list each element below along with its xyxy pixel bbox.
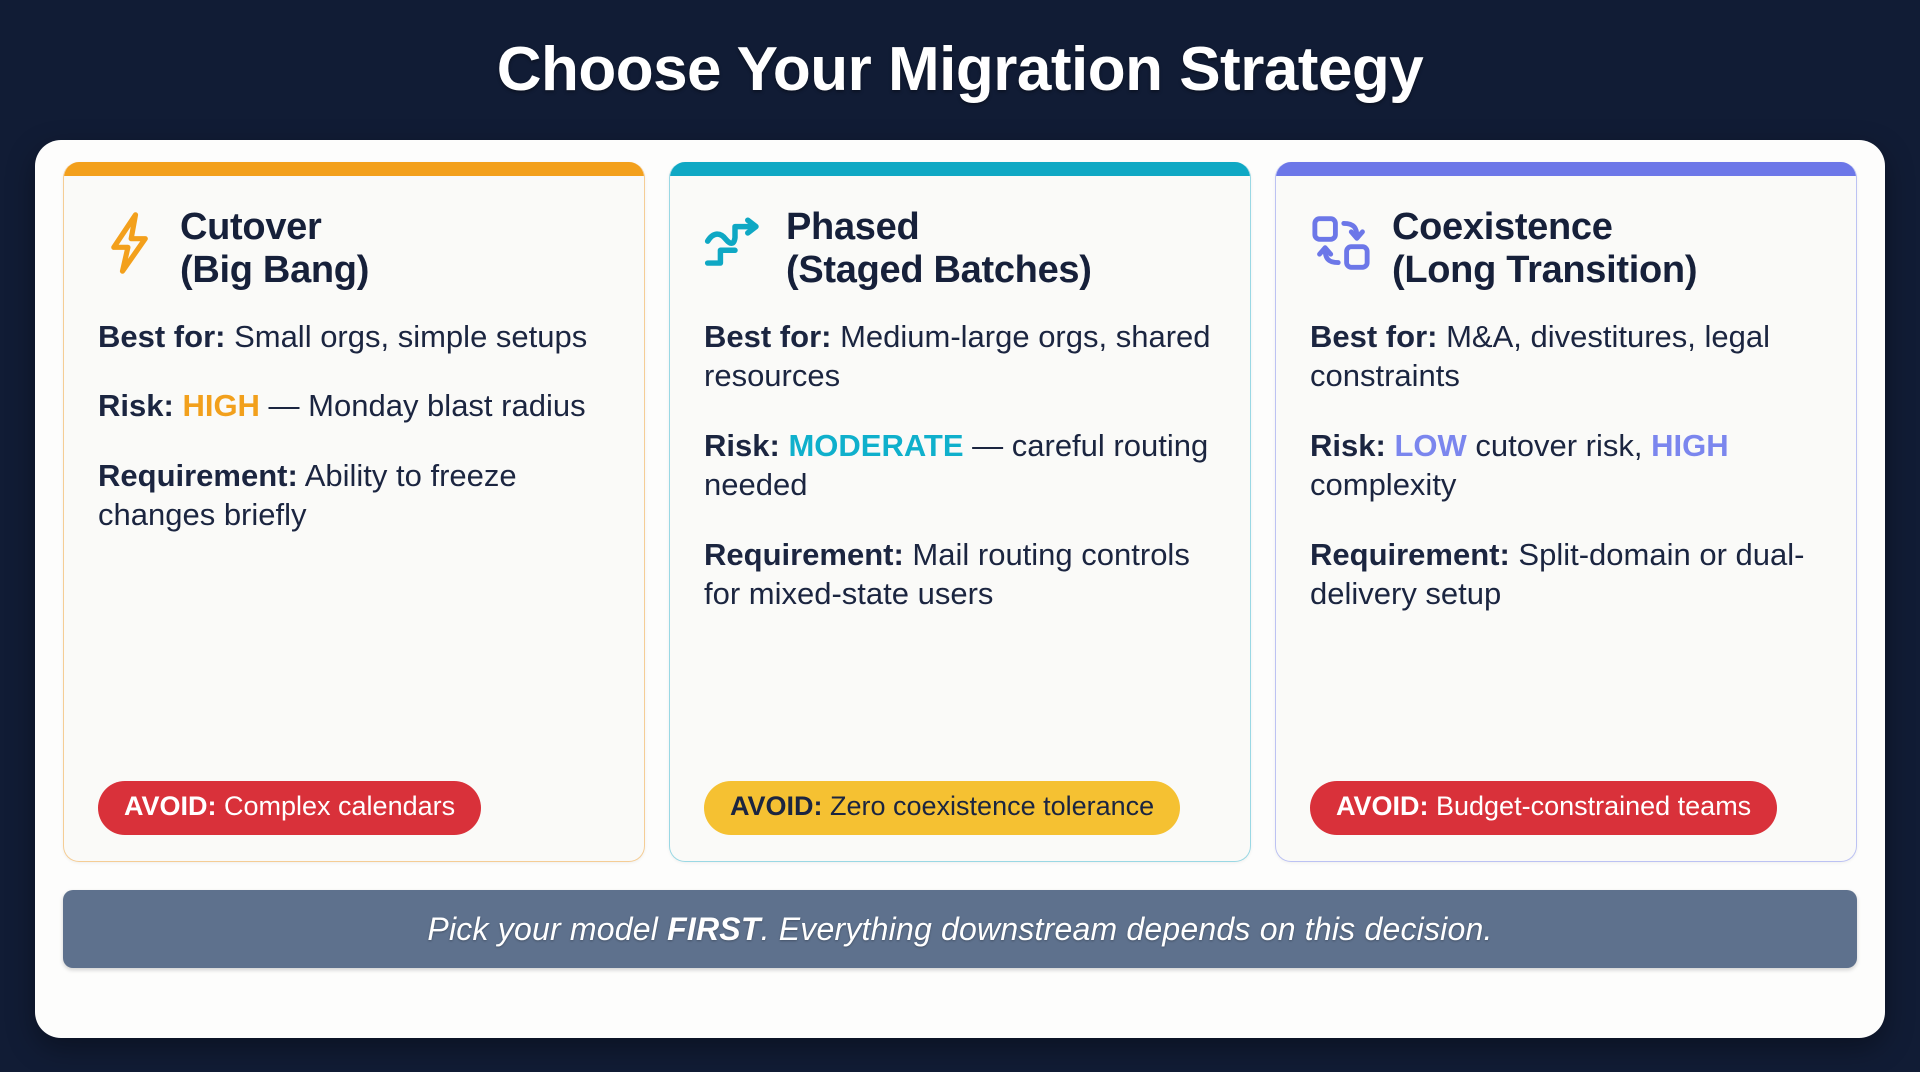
- risk-line: Risk: LOW cutover risk, HIGH complexity: [1310, 426, 1822, 505]
- footer-text: Pick your model FIRST. Everything downst…: [427, 911, 1492, 948]
- best-for-label: Best for:: [1310, 319, 1437, 354]
- avoid-row: AVOID: Budget-constrained teams: [1310, 755, 1822, 835]
- card-title-line1: Coexistence: [1392, 206, 1613, 248]
- card-title-line2: (Long Transition): [1392, 249, 1697, 291]
- footer-banner: Pick your model FIRST. Everything downst…: [63, 890, 1857, 968]
- best-for-label: Best for:: [704, 319, 831, 354]
- strategy-card-phased[interactable]: Phased (Staged Batches) Best for: Medium…: [669, 162, 1251, 862]
- strategy-cards: Cutover (Big Bang) Best for: Small orgs,…: [63, 162, 1857, 862]
- risk-level-badge: MODERATE: [788, 428, 963, 463]
- content-panel: Cutover (Big Bang) Best for: Small orgs,…: [35, 140, 1885, 1038]
- requirement-label: Requirement:: [1310, 537, 1510, 572]
- card-title: Phased (Staged Batches): [786, 206, 1092, 291]
- swap-squares-icon: [1310, 206, 1372, 280]
- risk-line: Risk: HIGH — Monday blast radius: [98, 386, 610, 425]
- risk-level-badge-secondary: HIGH: [1651, 428, 1729, 463]
- best-for-label: Best for:: [98, 319, 225, 354]
- best-for-line: Best for: M&A, divestitures, legal const…: [1310, 317, 1822, 396]
- card-title: Coexistence (Long Transition): [1392, 206, 1697, 291]
- card-title: Cutover (Big Bang): [180, 206, 369, 291]
- infographic-root: Choose Your Migration Strategy Cutover (…: [0, 0, 1920, 1072]
- risk-label: Risk:: [1310, 428, 1386, 463]
- requirement-line: Requirement: Ability to freeze changes b…: [98, 456, 610, 535]
- lightning-bolt-icon: [98, 206, 160, 280]
- avoid-row: AVOID: Zero coexistence tolerance: [704, 755, 1216, 835]
- risk-detail: — Monday blast radius: [260, 388, 586, 423]
- requirement-label: Requirement:: [98, 458, 298, 493]
- best-for-line: Best for: Medium-large orgs, shared reso…: [704, 317, 1216, 396]
- avoid-label: AVOID:: [1336, 791, 1429, 821]
- card-header: Coexistence (Long Transition): [1310, 206, 1822, 291]
- card-title-line1: Cutover: [180, 206, 321, 248]
- requirement-line: Requirement: Mail routing controls for m…: [704, 535, 1216, 614]
- avoid-row: AVOID: Complex calendars: [98, 755, 610, 835]
- footer-text-after: . Everything downstream depends on this …: [761, 911, 1493, 947]
- risk-label: Risk:: [98, 388, 174, 423]
- risk-label: Risk:: [704, 428, 780, 463]
- avoid-label: AVOID:: [124, 791, 217, 821]
- risk-detail-secondary: complexity: [1310, 467, 1456, 502]
- card-title-line2: (Big Bang): [180, 249, 369, 291]
- avoid-value: Budget-constrained teams: [1429, 791, 1752, 821]
- avoid-value: Zero coexistence tolerance: [823, 791, 1155, 821]
- card-header: Cutover (Big Bang): [98, 206, 610, 291]
- footer-emphasis: FIRST: [667, 911, 760, 947]
- risk-level-badge: LOW: [1394, 428, 1466, 463]
- page-title: Choose Your Migration Strategy: [497, 39, 1424, 101]
- strategy-card-cutover[interactable]: Cutover (Big Bang) Best for: Small orgs,…: [63, 162, 645, 862]
- strategy-card-coexistence[interactable]: Coexistence (Long Transition) Best for: …: [1275, 162, 1857, 862]
- avoid-label: AVOID:: [730, 791, 823, 821]
- best-for-line: Best for: Small orgs, simple setups: [98, 317, 610, 356]
- card-title-line2: (Staged Batches): [786, 249, 1092, 291]
- risk-detail: cutover risk,: [1467, 428, 1643, 463]
- wavy-step-arrow-icon: [704, 206, 766, 280]
- requirement-label: Requirement:: [704, 537, 904, 572]
- avoid-badge: AVOID: Budget-constrained teams: [1310, 781, 1777, 835]
- card-title-line1: Phased: [786, 206, 919, 248]
- title-bar: Choose Your Migration Strategy: [0, 0, 1920, 140]
- risk-level-badge: HIGH: [182, 388, 260, 423]
- avoid-value: Complex calendars: [217, 791, 456, 821]
- best-for-value: Small orgs, simple setups: [225, 319, 587, 354]
- footer-text-before: Pick your model: [427, 911, 667, 947]
- avoid-badge: AVOID: Complex calendars: [98, 781, 481, 835]
- risk-line: Risk: MODERATE — careful routing needed: [704, 426, 1216, 505]
- avoid-badge: AVOID: Zero coexistence tolerance: [704, 781, 1180, 835]
- requirement-line: Requirement: Split-domain or dual-delive…: [1310, 535, 1822, 614]
- card-header: Phased (Staged Batches): [704, 206, 1216, 291]
